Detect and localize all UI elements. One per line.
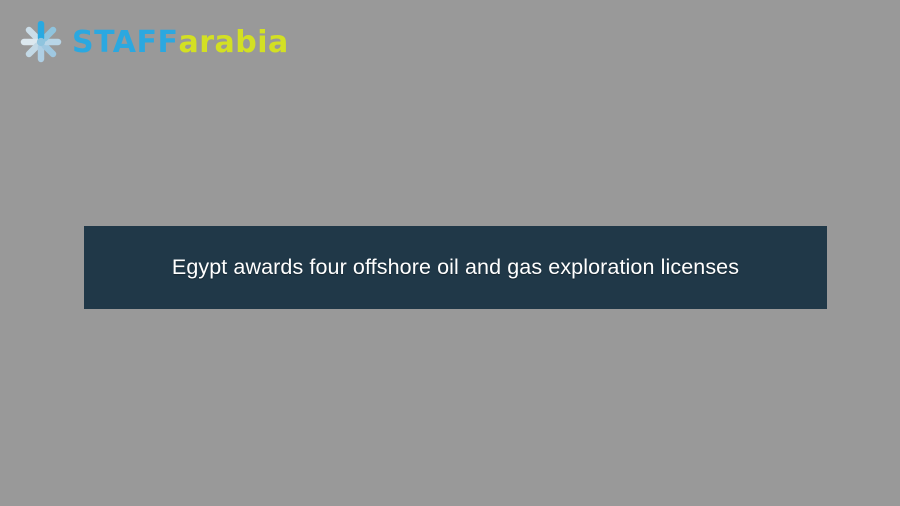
- brand-wordmark: STAFF arabia: [72, 28, 289, 58]
- brand-logo[interactable]: STAFF arabia: [18, 16, 278, 68]
- brand-wordmark-primary: STAFF: [72, 28, 178, 58]
- snowflake-icon: [18, 19, 64, 65]
- brand-wordmark-secondary: arabia: [178, 28, 288, 58]
- title-banner: Egypt awards four offshore oil and gas e…: [84, 226, 827, 309]
- page-title: Egypt awards four offshore oil and gas e…: [172, 254, 739, 281]
- slide-canvas: STAFF arabia Egypt awards four offshore …: [0, 0, 900, 506]
